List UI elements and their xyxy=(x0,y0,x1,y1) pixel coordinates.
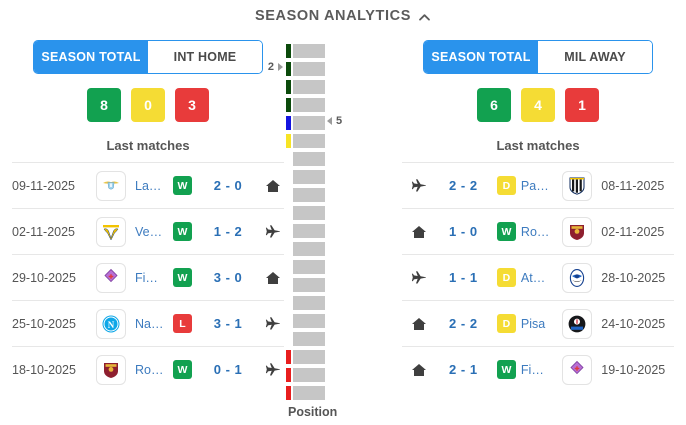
ladder-rows: 2 5 xyxy=(286,44,398,400)
ladder-row-18 xyxy=(286,350,398,364)
match-date: 24-10-2025 xyxy=(601,317,674,331)
match-result-badge: W xyxy=(497,360,516,379)
match-date: 28-10-2025 xyxy=(601,271,674,285)
ladder-bar xyxy=(293,170,325,184)
table-row[interactable]: 18-10-2025 Ro… W 0 - 1 xyxy=(12,346,284,392)
match-score: 3 - 0 xyxy=(206,270,250,285)
away-icon xyxy=(410,178,428,194)
ladder-marker xyxy=(286,134,291,148)
triangle-left-icon xyxy=(327,117,332,125)
right-last-matches-label: Last matches xyxy=(402,138,674,153)
left-toggle-season-total[interactable]: SEASON TOTAL xyxy=(34,41,148,73)
match-opponent: Pa… xyxy=(521,179,556,193)
match-score: 0 - 1 xyxy=(206,362,250,377)
ladder-marker xyxy=(286,80,291,94)
ladder-bar xyxy=(293,368,325,382)
ladder-bar xyxy=(293,206,325,220)
match-score: 1 - 2 xyxy=(206,224,250,239)
match-result-badge: W xyxy=(173,268,192,287)
ladder-row-13 xyxy=(286,260,398,274)
ladder-marker xyxy=(286,296,291,310)
table-row[interactable]: 09-11-2025 La… W 2 - 0 xyxy=(12,162,284,208)
left-matches-list: 09-11-2025 La… W 2 - 0 02-11-2025 xyxy=(12,162,284,392)
match-date: 25-10-2025 xyxy=(12,317,86,331)
lazio-logo xyxy=(96,171,126,201)
match-result-badge: W xyxy=(173,222,192,241)
ladder-row-5: 5 xyxy=(286,116,398,130)
right-position-marker: 5 xyxy=(327,115,342,127)
ladder-row-8 xyxy=(286,170,398,184)
left-position-marker: 2 xyxy=(268,61,283,73)
ladder-row-12 xyxy=(286,242,398,256)
ladder-marker xyxy=(286,386,291,400)
match-score: 3 - 1 xyxy=(206,316,250,331)
pisa-logo xyxy=(562,309,592,339)
left-toggle-group[interactable]: SEASON TOTAL INT HOME xyxy=(33,40,263,74)
match-opponent: Ve… xyxy=(135,225,169,239)
parma-logo xyxy=(562,171,592,201)
left-draws-count: 0 xyxy=(131,88,165,122)
match-date: 29-10-2025 xyxy=(12,271,86,285)
roma-logo xyxy=(96,355,126,385)
left-wins-count: 8 xyxy=(87,88,121,122)
ladder-marker xyxy=(286,332,291,346)
ladder-marker xyxy=(286,152,291,166)
ladder-marker xyxy=(286,260,291,274)
match-date: 02-11-2025 xyxy=(12,225,86,239)
right-draws-count: 4 xyxy=(521,88,555,122)
match-score: 1 - 1 xyxy=(442,270,485,285)
match-result-badge: D xyxy=(497,268,516,287)
ladder-row-2: 2 xyxy=(286,62,398,76)
ladder-bar xyxy=(293,116,325,130)
ladder-bar xyxy=(293,296,325,310)
ladder-row-6 xyxy=(286,134,398,148)
left-last-matches-label: Last matches xyxy=(12,138,284,153)
match-result-badge: D xyxy=(497,176,516,195)
match-date: 09-11-2025 xyxy=(12,179,86,193)
match-opponent: Pisa xyxy=(521,317,556,331)
ladder-row-11 xyxy=(286,224,398,238)
ladder-row-19 xyxy=(286,368,398,382)
table-row[interactable]: 1 - 0 W Ro… 02-11-2025 xyxy=(402,208,674,254)
ladder-bar xyxy=(293,332,325,346)
ladder-bar xyxy=(293,278,325,292)
napoli-logo: N xyxy=(96,309,126,339)
table-row[interactable]: 2 - 1 W Fi… 19-10-2025 xyxy=(402,346,674,392)
right-wins-count: 6 xyxy=(477,88,511,122)
left-wdl-counters: 8 0 3 xyxy=(12,88,284,122)
ladder-marker xyxy=(286,62,291,76)
right-toggle-group[interactable]: SEASON TOTAL MIL AWAY xyxy=(423,40,653,74)
roma-logo xyxy=(562,217,592,247)
home-icon xyxy=(410,316,428,332)
ladder-marker xyxy=(286,314,291,328)
match-opponent: Fi… xyxy=(135,271,169,285)
right-toggle-mil-away[interactable]: MIL AWAY xyxy=(538,41,652,73)
ladder-marker xyxy=(286,188,291,202)
verona-logo xyxy=(96,217,126,247)
match-score: 2 - 2 xyxy=(442,178,485,193)
left-losses-count: 3 xyxy=(175,88,209,122)
match-result-badge: W xyxy=(173,360,192,379)
ladder-row-1 xyxy=(286,44,398,58)
match-result-badge: W xyxy=(173,176,192,195)
ladder-marker xyxy=(286,368,291,382)
match-result-badge: L xyxy=(173,314,192,333)
home-icon xyxy=(264,270,282,286)
ladder-bar xyxy=(293,188,325,202)
position-ladder: 2 5 xyxy=(286,44,398,419)
away-icon xyxy=(264,224,282,240)
ladder-marker xyxy=(286,350,291,364)
match-date: 19-10-2025 xyxy=(601,363,674,377)
ladder-bar xyxy=(293,224,325,238)
ladder-bar xyxy=(293,350,325,364)
right-matches-list: 2 - 2 D Pa… 08-11-2025 1 - 0 W xyxy=(402,162,674,392)
right-wdl-counters: 6 4 1 xyxy=(402,88,674,122)
ladder-row-14 xyxy=(286,278,398,292)
right-losses-count: 1 xyxy=(565,88,599,122)
match-date: 18-10-2025 xyxy=(12,363,86,377)
away-icon xyxy=(410,270,428,286)
away-icon xyxy=(264,362,282,378)
ladder-row-9 xyxy=(286,188,398,202)
ladder-marker xyxy=(286,278,291,292)
match-score: 2 - 2 xyxy=(442,316,485,331)
svg-text:N: N xyxy=(108,320,115,330)
left-team-panel: SEASON TOTAL INT HOME 8 0 3 Last matches… xyxy=(12,40,284,392)
ladder-row-3 xyxy=(286,80,398,94)
table-row[interactable]: 2 - 2 D Pisa 24-10-2025 xyxy=(402,300,674,346)
away-icon xyxy=(264,316,282,332)
left-toggle-int-home[interactable]: INT HOME xyxy=(148,41,262,73)
match-result-badge: W xyxy=(497,222,516,241)
fiorentina-logo xyxy=(562,355,592,385)
ladder-bar xyxy=(293,260,325,274)
ladder-bar xyxy=(293,314,325,328)
atalanta-logo xyxy=(562,263,592,293)
ladder-bar xyxy=(293,44,325,58)
match-opponent: Na… xyxy=(135,317,169,331)
ladder-row-17 xyxy=(286,332,398,346)
ladder-marker xyxy=(286,44,291,58)
ladder-caption: Position xyxy=(288,405,398,419)
ladder-row-20 xyxy=(286,386,398,400)
ladder-bar xyxy=(293,134,325,148)
table-row[interactable]: 25-10-2025 N Na… L 3 - 1 xyxy=(12,300,284,346)
chevron-up-icon[interactable] xyxy=(418,11,431,24)
ladder-row-15 xyxy=(286,296,398,310)
match-score: 2 - 0 xyxy=(206,178,250,193)
table-row[interactable]: 02-11-2025 Ve… W 1 - 2 xyxy=(12,208,284,254)
match-date: 08-11-2025 xyxy=(601,179,674,193)
right-toggle-season-total[interactable]: SEASON TOTAL xyxy=(424,41,538,73)
ladder-row-10 xyxy=(286,206,398,220)
ladder-marker xyxy=(286,170,291,184)
ladder-marker xyxy=(286,242,291,256)
home-icon xyxy=(410,224,428,240)
ladder-bar xyxy=(293,98,325,112)
match-opponent: La… xyxy=(135,179,169,193)
home-icon xyxy=(264,178,282,194)
match-opponent: Ro… xyxy=(521,225,556,239)
table-row[interactable]: 2 - 2 D Pa… 08-11-2025 xyxy=(402,162,674,208)
match-result-badge: D xyxy=(497,314,516,333)
match-score: 1 - 0 xyxy=(442,224,485,239)
right-team-panel: SEASON TOTAL MIL AWAY 6 4 1 Last matches… xyxy=(402,40,674,392)
right-position-value: 5 xyxy=(336,115,342,127)
match-opponent: At… xyxy=(521,271,556,285)
ladder-row-4 xyxy=(286,98,398,112)
home-icon xyxy=(410,362,428,378)
ladder-bar xyxy=(293,242,325,256)
page-title: SEASON ANALYTICS xyxy=(255,8,411,24)
ladder-bar xyxy=(293,80,325,94)
ladder-marker xyxy=(286,116,291,130)
ladder-bar xyxy=(293,152,325,166)
ladder-marker xyxy=(286,206,291,220)
match-opponent: Ro… xyxy=(135,363,169,377)
ladder-bar xyxy=(293,386,325,400)
season-analytics-panel: SEASON ANALYTICS SEASON TOTAL INT HOME 8… xyxy=(0,0,686,425)
triangle-right-icon xyxy=(278,63,283,71)
ladder-row-16 xyxy=(286,314,398,328)
ladder-bar xyxy=(293,62,325,76)
fiorentina-logo xyxy=(96,263,126,293)
table-row[interactable]: 29-10-2025 Fi… W 3 - 0 xyxy=(12,254,284,300)
ladder-marker xyxy=(286,98,291,112)
ladder-row-7 xyxy=(286,152,398,166)
match-score: 2 - 1 xyxy=(442,362,485,377)
table-row[interactable]: 1 - 1 D At… 28-10-2025 xyxy=(402,254,674,300)
panel-header: SEASON ANALYTICS xyxy=(0,0,686,32)
match-opponent: Fi… xyxy=(521,363,556,377)
ladder-marker xyxy=(286,224,291,238)
match-date: 02-11-2025 xyxy=(601,225,674,239)
left-position-value: 2 xyxy=(268,61,274,73)
